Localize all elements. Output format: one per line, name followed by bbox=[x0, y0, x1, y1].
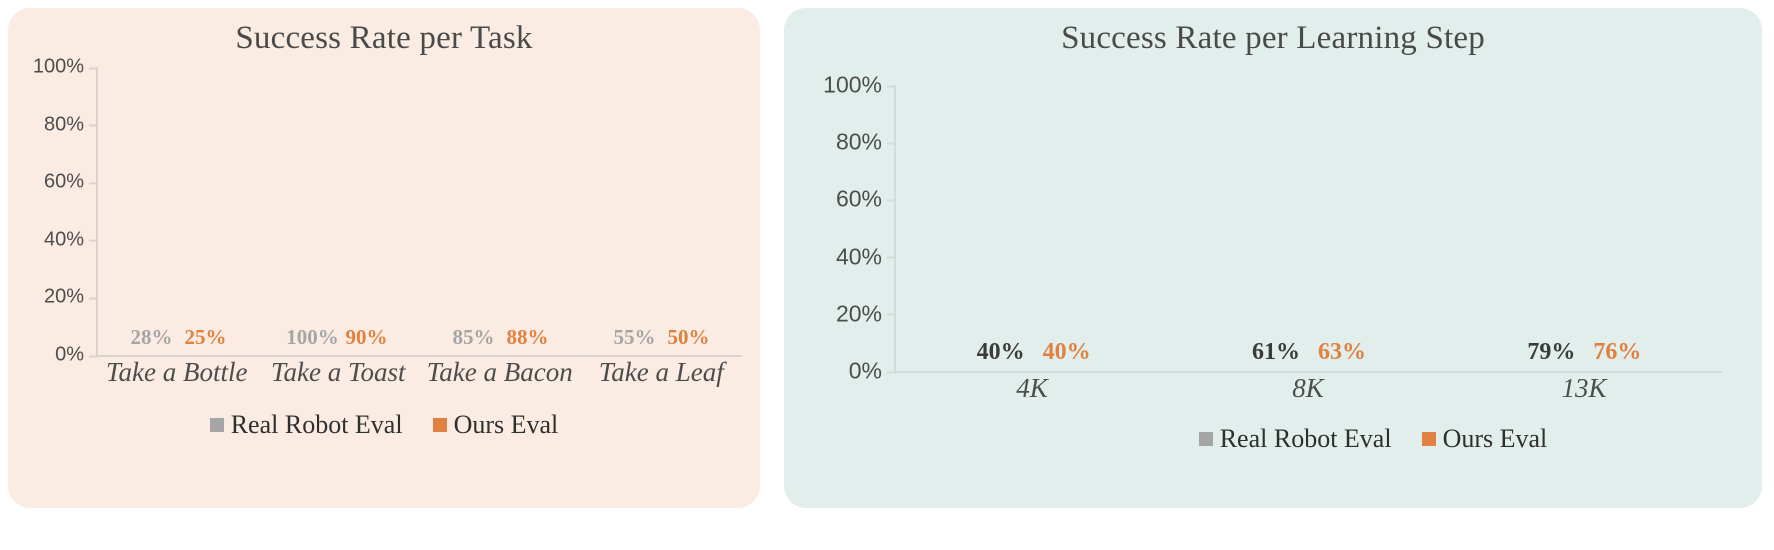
chart-title-right: Success Rate per Learning Step bbox=[784, 8, 1762, 57]
legend-item-ours-eval[interactable]: Ours Eval bbox=[1422, 424, 1548, 454]
legend-label-ours-eval: Ours Eval bbox=[454, 410, 559, 440]
legend-label-real-robot-eval: Real Robot Eval bbox=[1220, 424, 1392, 454]
legend-item-real-robot-eval[interactable]: Real Robot Eval bbox=[1199, 424, 1392, 454]
bar-group-take-a-bottle: 28% 25% bbox=[98, 67, 259, 355]
bar-value-label: 88% bbox=[507, 325, 549, 350]
y-axis-tick-2: 60% bbox=[44, 171, 98, 194]
y-axis-tick-1: 80% bbox=[44, 113, 98, 136]
x-axis-labels-left: Take a Bottle Take a Toast Take a Bacon … bbox=[96, 357, 742, 388]
bar-groups-right: 40% 40% 61% bbox=[896, 85, 1722, 371]
legend-label-ours-eval: Ours Eval bbox=[1443, 424, 1548, 454]
bar-group-8k: 61% 63% bbox=[1171, 85, 1446, 371]
x-axis-label-2: Take a Bacon bbox=[419, 357, 581, 388]
chart-panel-success-rate-per-task: Success Rate per Task 100% 80% 60% 40% 2… bbox=[8, 8, 760, 508]
bar-value-label: 55% bbox=[614, 325, 656, 350]
bar-value-label: 25% bbox=[185, 325, 227, 350]
bar-value-label: 76% bbox=[1593, 339, 1641, 366]
legend-left: Real Robot Eval Ours Eval bbox=[8, 410, 760, 440]
plot-axes-right: 100% 80% 60% 40% 20% 0% 40% 40% bbox=[894, 85, 1722, 373]
x-axis-label-1: 8K bbox=[1170, 373, 1446, 404]
plot-axes-left: 100% 80% 60% 40% 20% 0% 28% 25% bbox=[96, 67, 742, 357]
bar-value-label: 40% bbox=[977, 339, 1025, 366]
y-axis-tick-4: 20% bbox=[836, 300, 896, 327]
chart-title-left: Success Rate per Task bbox=[8, 8, 760, 57]
legend-label-real-robot-eval: Real Robot Eval bbox=[231, 410, 403, 440]
x-axis-label-0: 4K bbox=[894, 373, 1170, 404]
bar-group-take-a-bacon: 85% 88% bbox=[420, 67, 581, 355]
y-axis-tick-2: 60% bbox=[836, 186, 896, 213]
legend-swatch-icon-orange bbox=[1422, 432, 1436, 446]
legend-right: Real Robot Eval Ours Eval bbox=[784, 424, 1762, 454]
y-axis-tick-0: 100% bbox=[823, 72, 896, 99]
y-axis-tick-3: 40% bbox=[44, 228, 98, 251]
legend-item-ours-eval[interactable]: Ours Eval bbox=[433, 410, 559, 440]
y-axis-tick-1: 80% bbox=[836, 129, 896, 156]
y-axis-tick-0: 100% bbox=[33, 56, 98, 79]
bar-group-4k: 40% 40% bbox=[896, 85, 1171, 371]
plot-area-left: 100% 80% 60% 40% 20% 0% 28% 25% bbox=[96, 67, 742, 357]
bar-value-label: 40% bbox=[1043, 339, 1091, 366]
legend-swatch-icon-gray bbox=[1199, 432, 1213, 446]
x-axis-label-3: Take a Leaf bbox=[581, 357, 743, 388]
y-axis-tick-5: 0% bbox=[55, 344, 98, 367]
bar-value-label: 90% bbox=[346, 325, 388, 350]
y-axis-tick-3: 40% bbox=[836, 243, 896, 270]
x-axis-label-1: Take a Toast bbox=[258, 357, 420, 388]
bar-value-label: 61% bbox=[1252, 339, 1300, 366]
x-axis-label-0: Take a Bottle bbox=[96, 357, 258, 388]
bar-value-label: 79% bbox=[1527, 339, 1575, 366]
bar-group-13k: 79% 76% bbox=[1447, 85, 1722, 371]
legend-swatch-icon-orange bbox=[433, 418, 447, 432]
bar-value-label: 100% bbox=[286, 325, 339, 350]
bar-group-take-a-leaf: 55% 50% bbox=[581, 67, 742, 355]
legend-item-real-robot-eval[interactable]: Real Robot Eval bbox=[210, 410, 403, 440]
x-axis-labels-right: 4K 8K 13K bbox=[894, 373, 1722, 404]
legend-swatch-icon-gray bbox=[210, 418, 224, 432]
y-axis-tick-5: 0% bbox=[849, 358, 896, 385]
bar-groups-left: 28% 25% 100% bbox=[98, 67, 742, 355]
chart-panel-success-rate-per-learning-step: Success Rate per Learning Step 100% 80% … bbox=[784, 8, 1762, 508]
bar-value-label: 63% bbox=[1318, 339, 1366, 366]
charts-page: Success Rate per Task 100% 80% 60% 40% 2… bbox=[0, 0, 1774, 550]
x-axis-label-2: 13K bbox=[1446, 373, 1722, 404]
bar-value-label: 50% bbox=[668, 325, 710, 350]
bar-group-take-a-toast: 100% 90% bbox=[259, 67, 420, 355]
bar-value-label: 85% bbox=[453, 325, 495, 350]
y-axis-tick-4: 20% bbox=[44, 286, 98, 309]
plot-area-right: 100% 80% 60% 40% 20% 0% 40% 40% bbox=[894, 85, 1722, 373]
bar-value-label: 28% bbox=[131, 325, 173, 350]
